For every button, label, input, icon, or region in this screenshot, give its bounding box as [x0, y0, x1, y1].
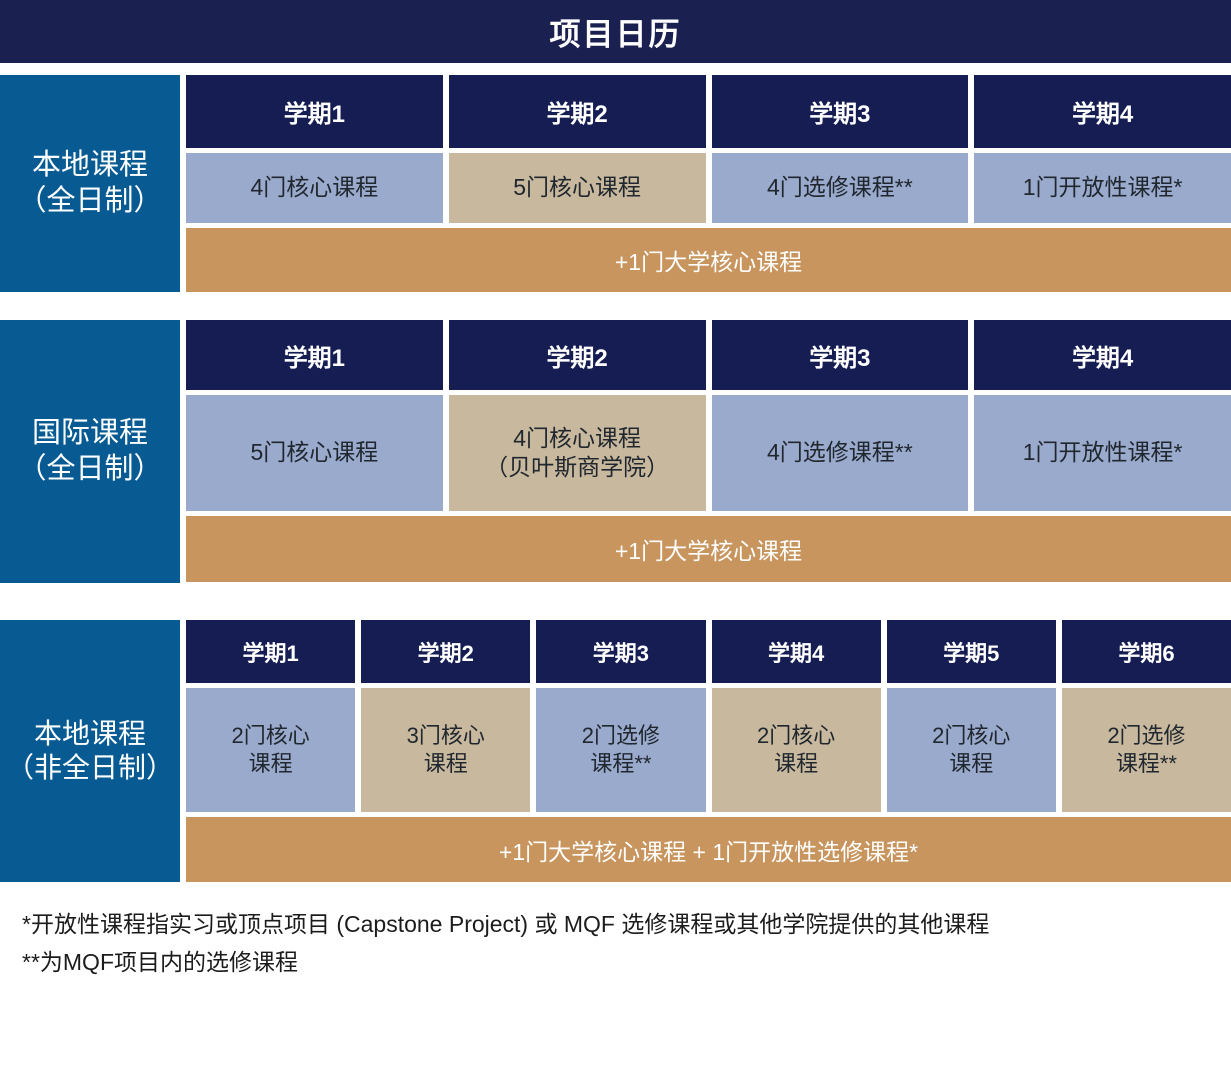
semester-header-row: 学期1 学期2 学期3 学期4 [186, 320, 1231, 390]
section-label-line1: 国际课程 [32, 416, 148, 451]
section-local-part-time: 本地课程 （非全日制） 学期1 学期2 学期3 学期4 学期5 学期6 2门核心… [0, 620, 1231, 882]
program-calendar-page: 项目日历 本地课程 （全日制） 学期1 学期2 学期3 学期4 4门核心课程 5… [0, 0, 1231, 1065]
course-cell: 3门核心课程 [361, 688, 530, 812]
semester-header-row: 学期1 学期2 学期3 学期4 学期5 学期6 [186, 620, 1231, 683]
footnote-single-asterisk: *开放性课程指实习或顶点项目 (Capstone Project) 或 MQF … [22, 906, 1202, 944]
footnote-double-asterisk: **为MQF项目内的选修课程 [22, 944, 1202, 982]
course-cell: 5门核心课程 [449, 153, 706, 223]
page-title: 项目日历 [550, 9, 682, 54]
course-cell: 2门核心课程 [186, 688, 355, 812]
semester-header: 学期4 [974, 320, 1231, 390]
semester-header: 学期3 [536, 620, 705, 683]
semester-header: 学期4 [712, 620, 881, 683]
section-label-line2: （非全日制） [6, 751, 174, 785]
section-label-local-part-time: 本地课程 （非全日制） [0, 620, 180, 882]
section-grid: 学期1 学期2 学期3 学期4 5门核心课程 4门核心课程（贝叶斯商学院） 4门… [186, 320, 1231, 583]
section-grid: 学期1 学期2 学期3 学期4 4门核心课程 5门核心课程 4门选修课程** 1… [186, 75, 1231, 292]
semester-header: 学期1 [186, 75, 443, 148]
section-footer-band: +1门大学核心课程 [186, 516, 1231, 582]
section-label-line1: 本地课程 [32, 148, 148, 183]
semester-header: 学期1 [186, 620, 355, 683]
section-label-line2: （全日制） [17, 184, 162, 219]
section-label-international-full-time: 国际课程 （全日制） [0, 320, 180, 583]
course-cell: 4门选修课程** [712, 395, 969, 511]
semester-header: 学期2 [449, 320, 706, 390]
course-cell: 4门选修课程** [712, 153, 969, 223]
course-cell: 2门核心课程 [712, 688, 881, 812]
semester-header: 学期6 [1062, 620, 1231, 683]
course-cell-row: 4门核心课程 5门核心课程 4门选修课程** 1门开放性课程* [186, 153, 1231, 223]
semester-header: 学期4 [974, 75, 1231, 148]
course-cell-row: 5门核心课程 4门核心课程（贝叶斯商学院） 4门选修课程** 1门开放性课程* [186, 395, 1231, 511]
course-cell: 4门核心课程（贝叶斯商学院） [449, 395, 706, 511]
section-label-line1: 本地课程 [34, 717, 146, 751]
section-international-full-time: 国际课程 （全日制） 学期1 学期2 学期3 学期4 5门核心课程 4门核心课程… [0, 320, 1231, 583]
course-cell: 1门开放性课程* [974, 395, 1231, 511]
section-grid: 学期1 学期2 学期3 学期4 学期5 学期6 2门核心课程 3门核心课程 2门… [186, 620, 1231, 882]
semester-header-row: 学期1 学期2 学期3 学期4 [186, 75, 1231, 148]
footnotes: *开放性课程指实习或顶点项目 (Capstone Project) 或 MQF … [22, 906, 1202, 982]
semester-header: 学期3 [712, 320, 969, 390]
section-label-local-full-time: 本地课程 （全日制） [0, 75, 180, 292]
semester-header: 学期3 [712, 75, 969, 148]
semester-header: 学期2 [361, 620, 530, 683]
course-cell: 2门核心课程 [887, 688, 1056, 812]
course-cell: 2门选修课程** [1062, 688, 1231, 812]
section-label-line2: （全日制） [17, 452, 162, 487]
semester-header: 学期5 [887, 620, 1056, 683]
section-footer-band: +1门大学核心课程 + 1门开放性选修课程* [186, 817, 1231, 882]
course-cell: 5门核心课程 [186, 395, 443, 511]
course-cell: 1门开放性课程* [974, 153, 1231, 223]
course-cell: 2门选修课程** [536, 688, 705, 812]
section-footer-band: +1门大学核心课程 [186, 228, 1231, 292]
course-cell-row: 2门核心课程 3门核心课程 2门选修课程** 2门核心课程 2门核心课程 2门选… [186, 688, 1231, 812]
section-local-full-time: 本地课程 （全日制） 学期1 学期2 学期3 学期4 4门核心课程 5门核心课程… [0, 75, 1231, 292]
semester-header: 学期1 [186, 320, 443, 390]
course-cell: 4门核心课程 [186, 153, 443, 223]
page-title-bar: 项目日历 [0, 0, 1231, 63]
semester-header: 学期2 [449, 75, 706, 148]
